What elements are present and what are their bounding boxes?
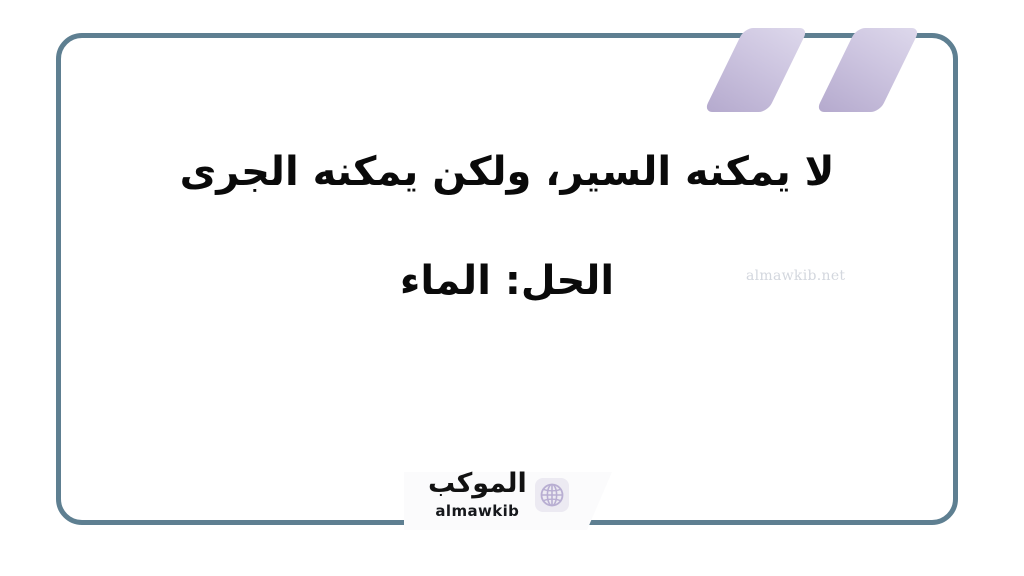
riddle-line: لا يمكنه السير، ولكن يمكنه الجرى [56, 150, 958, 195]
brand-logo[interactable]: الموكب almawkib [428, 470, 569, 532]
logo-latin-name: almawkib [435, 504, 519, 519]
globe-icon [535, 478, 569, 512]
quote-card-canvas: لا يمكنه السير، ولكن يمكنه الجرى الحل: ا… [0, 0, 1024, 576]
logo-arabic-name: الموكب [428, 470, 527, 497]
site-watermark: almawkib.net [746, 268, 845, 284]
logo-content: الموكب almawkib [428, 470, 569, 519]
logo-wordmark: الموكب almawkib [428, 470, 527, 519]
